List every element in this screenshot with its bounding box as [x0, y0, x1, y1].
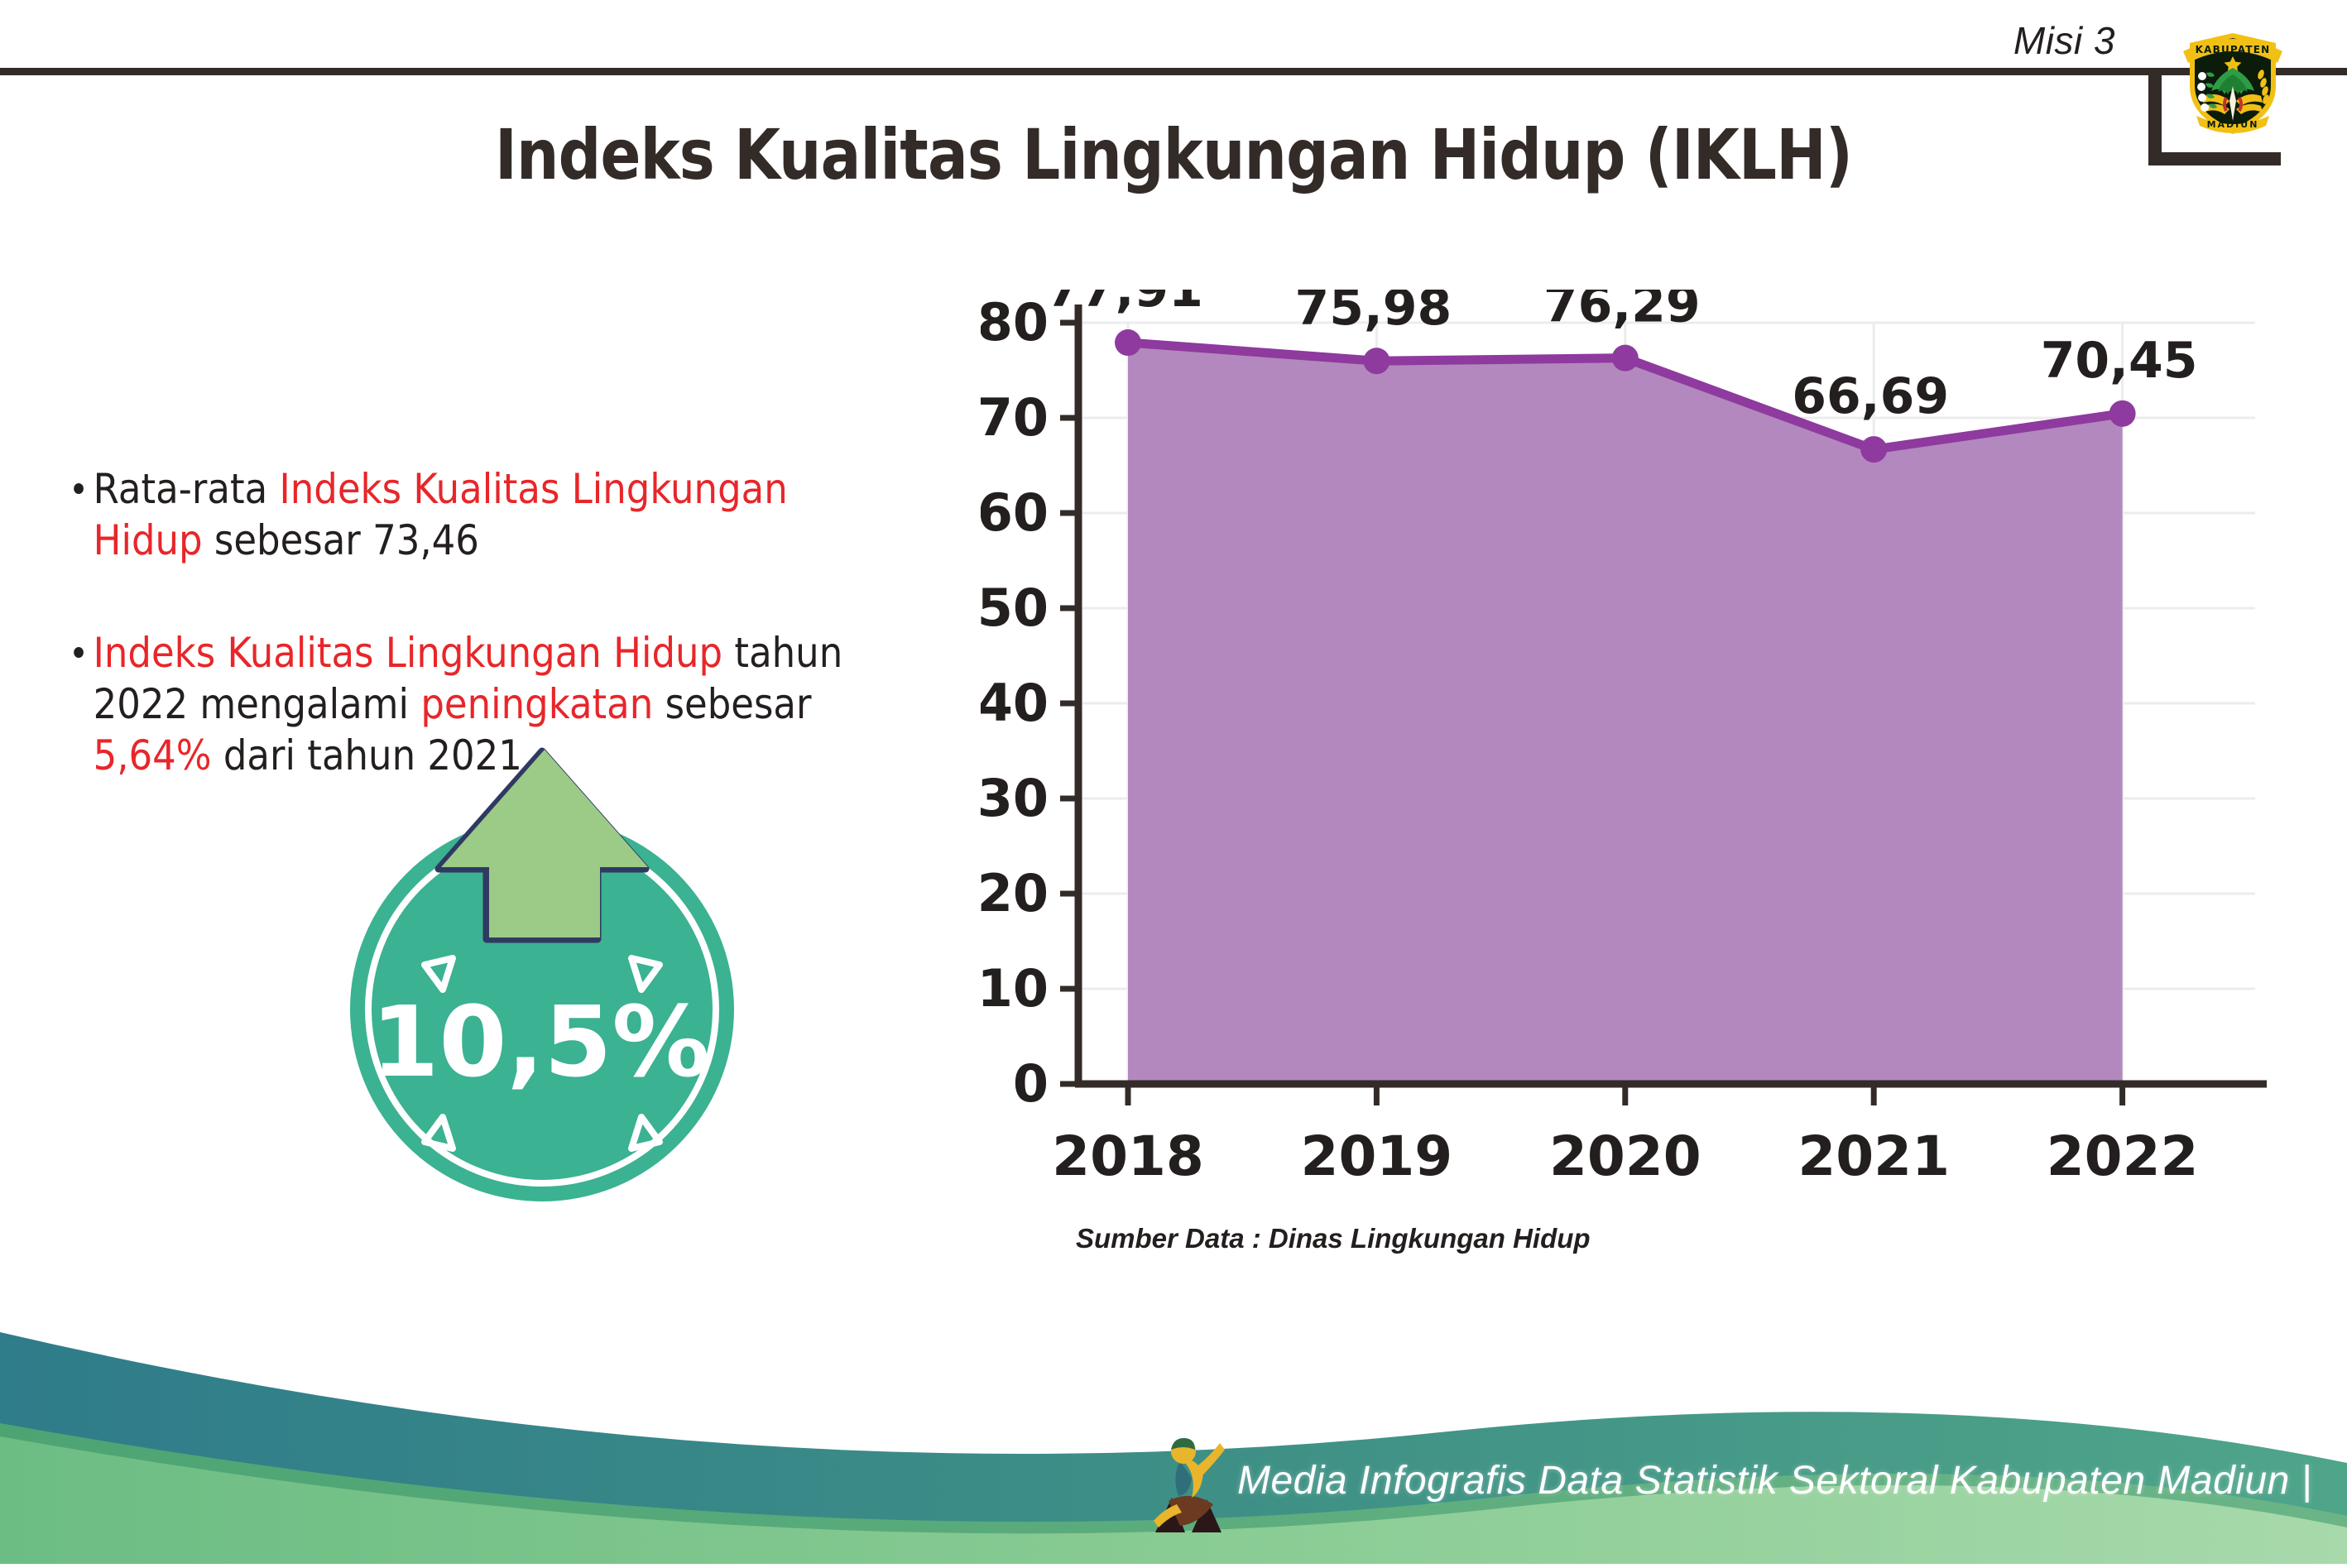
page-title: Indeks Kualitas Lingkungan Hidup (IKLH): [165, 114, 2183, 195]
chart-source-caption: Sumber Data : Dinas Lingkungan Hidup: [1076, 1223, 1591, 1254]
chart-point-marker: [1115, 329, 1141, 356]
chart-x-tick-label: 2022: [2047, 1124, 2199, 1183]
chart-value-label: 77,91: [1046, 290, 1203, 319]
chart-y-tick-label: 70: [981, 387, 1049, 448]
chart-point-marker: [2109, 400, 2136, 427]
footer-caption: Media Infografis Data Statistik Sektoral…: [1237, 1458, 2312, 1503]
narrative-list: Rata-rata Indeks Kualitas Lingkungan Hid…: [68, 463, 970, 781]
chart-y-tick-label: 0: [1013, 1053, 1049, 1114]
chart-point-marker: [1363, 348, 1389, 374]
bullet2-highlight-3: 5,64%: [94, 731, 212, 779]
chart-value-label: 66,69: [1792, 367, 1949, 425]
bullet2-highlight-1: Indeks Kualitas Lingkungan Hidup: [94, 629, 723, 677]
bullet2-text-2: sebesar: [653, 680, 811, 728]
chart-x-tick-label: 2020: [1549, 1124, 1701, 1183]
emblem-top-text: KABUPATEN: [2196, 44, 2271, 55]
chart-point-marker: [1860, 436, 1887, 463]
chart-y-tick-label: 60: [981, 482, 1049, 543]
kabupaten-madiun-emblem-icon: KABUPATEN: [2175, 15, 2291, 139]
chart-y-tick-label: 40: [981, 673, 1049, 733]
chart-y-tick-label: 80: [981, 292, 1049, 352]
badge-value: 10,5%: [371, 985, 709, 1099]
mission-label: Misi 3: [2013, 18, 2115, 63]
chart-x-tick-label: 2021: [1797, 1124, 1950, 1183]
chart-point-marker: [1612, 345, 1639, 372]
bullet1-text-1: Rata-rata: [94, 465, 280, 513]
header-divider-rule: [0, 68, 2347, 75]
list-item: Rata-rata Indeks Kualitas Lingkungan Hid…: [68, 463, 880, 566]
chart-y-tick-label: 10: [981, 958, 1049, 1019]
bullet2-highlight-2: peningkatan: [420, 680, 653, 728]
increase-badge: 10,5%: [327, 745, 757, 1208]
chart-y-tick-label: 20: [981, 863, 1049, 923]
chart-x-tick-label: 2018: [1052, 1124, 1204, 1183]
dancer-figure-icon: [1144, 1428, 1235, 1548]
chart-x-tick-label: 2019: [1301, 1124, 1453, 1183]
chart-value-label: 70,45: [2041, 332, 2198, 390]
chart-value-label: 76,29: [1543, 290, 1701, 334]
bullet1-text-2: sebesar 73,46: [203, 516, 479, 564]
chart-y-tick-label: 30: [981, 768, 1049, 828]
chart-value-label: 75,98: [1294, 290, 1452, 337]
iklh-area-chart: 77,9175,9876,2966,6970,45010203040506070…: [981, 290, 2272, 1183]
chart-y-tick-label: 50: [981, 578, 1049, 638]
emblem-bottom-text: MADIUN: [2207, 119, 2259, 130]
chart-area-fill: [1128, 343, 2123, 1084]
